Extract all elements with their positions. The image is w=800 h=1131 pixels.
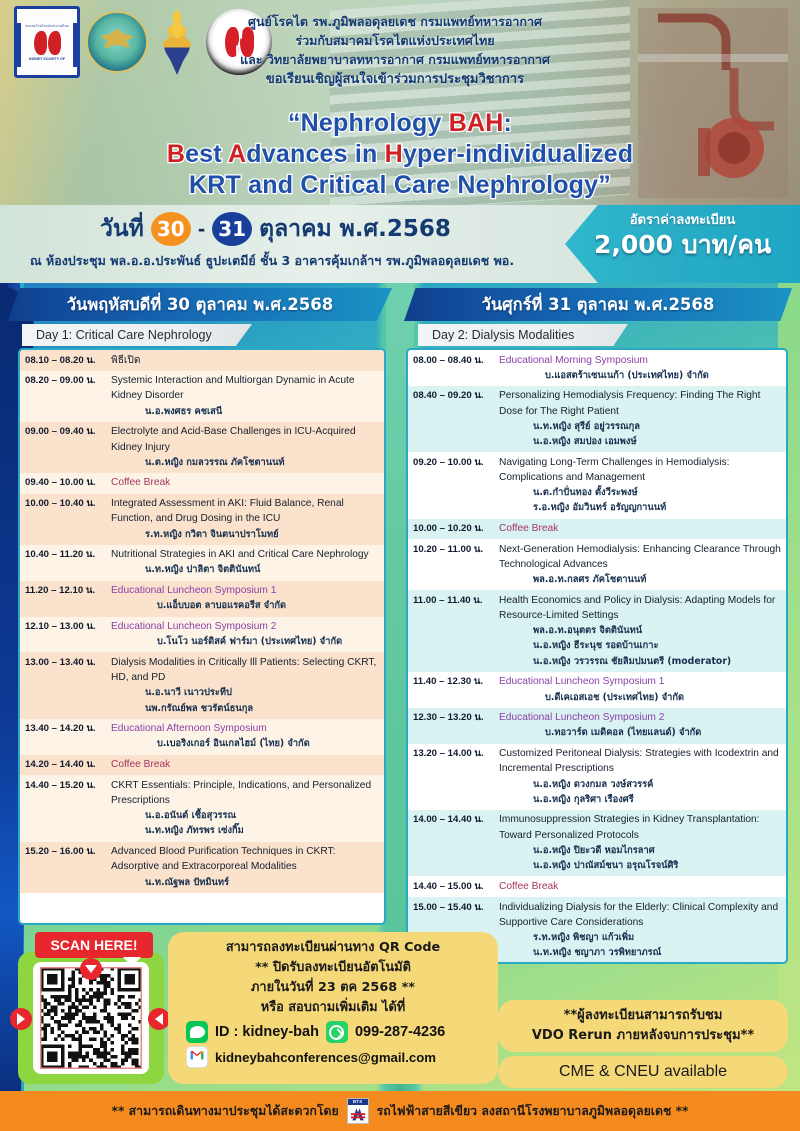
schedule-row-speaker: น.อ.หญิง ปาณัสม์ชนา อรุณโรจน์ศิริ [499,858,782,873]
schedule-row-title: Next-Generation Hemodialysis: Enhancing … [499,542,782,572]
schedule-row: 10.00 – 10.20 น.Coffee Break [408,519,786,540]
schedule-row: 08.40 – 09.20 น.Personalizing Hemodialys… [408,386,786,452]
schedule-row-time: 09.20 – 10.00 น. [413,455,499,470]
invitation-line: ขอเรียนเชิญผู้สนใจเข้าร่วมการประชุมวิชาก… [160,69,630,91]
schedule-row-title: Customized Peritoneal Dialysis: Strategi… [499,746,782,776]
schedule-row-title: Electrolyte and Acid-Base Challenges in … [111,424,380,454]
contact-row-1: ID : kidney-bah 099-287-4236 [176,1021,490,1043]
schedule-row-speaker: บ.โนโว นอร์ดิสค์ ฟาร์มา (ประเทศไทย) จำกั… [111,634,380,649]
schedule-row-time: 14.00 – 14.40 น. [413,812,499,827]
schedule-row-title: Advanced Blood Purification Techniques i… [111,844,380,874]
schedule-row-time: 10.00 – 10.40 น. [25,496,111,511]
schedule-row-time: 15.20 – 16.00 น. [25,844,111,859]
organizer-text-block: ศูนย์โรคไต รพ.ภูมิพลอดุลยเดช กรมแพทย์ทหา… [160,12,630,91]
rtaf-medical-department-logo [86,11,148,73]
schedule-row-body: Navigating Long-Term Challenges in Hemod… [499,455,782,516]
cme-text: CME & CNEU available [559,1063,727,1081]
schedule-row-speaker: บ.เบอริงเกอร์ อินเกลไฮม์ (ไทย) จำกัด [111,736,380,751]
schedule-row-title: Educational Luncheon Symposium 1 [499,674,782,689]
kidney-society-of-thailand-logo: สมาคมโรคไตแห่งประเทศไทย KIDNEY SOCIETY O… [14,6,80,78]
schedule-row-title: พิธีเปิด [111,353,380,368]
conference-title: “Nephrology BAH: Best Advances in Hyper-… [40,108,760,201]
schedule-row-time: 14.20 – 14.40 น. [25,757,111,772]
date-and-fee-band: วันที่ 30 - 31 ตุลาคม พ.ศ.2568 ณ ห้องประ… [0,205,800,283]
vdo-rerun-line-1: **ผู้ลงทะเบียนสามารถรับชม [564,1006,723,1026]
date-month-year: ตุลาคม พ.ศ.2568 [259,211,451,247]
qr-code-image[interactable] [38,967,144,1069]
date-pill-from: 30 [151,212,191,246]
organizer-line-3: และ วิทยาลัยพยาบาลทหารอากาศ กรมแพทย์ทหาร… [160,50,630,69]
schedule-row-time: 10.00 – 10.20 น. [413,521,499,536]
schedule-row-speaker: น.ท.หญิง สุรีย์ อยู่วรรณกุล [499,419,782,434]
schedule-row-speaker: ร.ท.หญิง พิชญา แก้วเพิ่ม [499,930,782,945]
schedule-row-body: Educational Luncheon Symposium 1บ.ดีเคเอ… [499,674,782,704]
schedule-row-body: Next-Generation Hemodialysis: Enhancing … [499,542,782,588]
schedule-row: 11.20 – 12.10 น.Educational Luncheon Sym… [20,581,384,617]
schedule-row-body: Customized Peritoneal Dialysis: Strategi… [499,746,782,807]
schedule-row-title: Systemic Interaction and Multiorgan Dyna… [111,373,380,403]
schedule-row-speaker: น.อ.หญิง วรวรรณ ชัยลิมปมนตรี (moderator) [499,654,782,669]
email-text: kidneybahconferences@gmail.com [215,1050,436,1065]
schedule-row-title: Personalizing Hemodialysis Frequency: Fi… [499,388,782,418]
schedule-row-time: 14.40 – 15.20 น. [25,778,111,793]
schedule-row-time: 11.40 – 12.30 น. [413,674,499,689]
poster-header: สมาคมโรคไตแห่งประเทศไทย KIDNEY SOCIETY O… [0,0,800,205]
schedule-row-time: 09.00 – 09.40 น. [25,424,111,439]
schedule-row-title: Educational Luncheon Symposium 2 [499,710,782,725]
schedule-row-time: 13.20 – 14.00 น. [413,746,499,761]
registration-fee-box: อัตราค่าลงทะเบียน 2,000 บาท/คน [565,205,800,283]
schedule-row-speaker: พล.อ.ท.อนุตตร จิตตินันทน์ [499,623,782,638]
phone-text: 099-287-4236 [355,1024,445,1040]
schedule-row: 10.40 – 11.20 น.Nutritional Strategies i… [20,545,384,581]
schedule-row-speaker: น.อ.หญิง ปิยะวดี หอมไกรลาศ [499,843,782,858]
schedule-row-time: 08.20 – 09.00 น. [25,373,111,388]
schedule-row: 11.40 – 12.30 น.Educational Luncheon Sym… [408,672,786,708]
schedule-row: 14.40 – 15.20 น.CKRT Essentials: Princip… [20,775,384,841]
schedule-row-speaker: น.อ.หญิง ธีระนุช รอดบ้านเกาะ [499,638,782,653]
schedule-row-time: 14.40 – 15.00 น. [413,879,499,894]
schedule-row-speaker: น.ต.หญิง กมลวรรณ ภัคโชตานนท์ [111,455,380,470]
schedule-row-body: Educational Morning Symposiumบ.แอสตร้าเซ… [499,353,782,383]
day1-title-tag: Day 1: Critical Care Nephrology [22,324,252,346]
schedule-row-time: 11.20 – 12.10 น. [25,583,111,598]
schedule-row: 08.10 – 08.20 น.พิธีเปิด [20,350,384,371]
schedule-row-title: Nutritional Strategies in AKI and Critic… [111,547,380,562]
day1-schedule-table: 08.10 – 08.20 น.พิธีเปิด08.20 – 09.00 น.… [18,348,386,925]
schedule-row-speaker: บ.แอสตร้าเซนเนก้า (ประเทศไทย) จำกัด [499,368,782,383]
schedule-row-body: Educational Afternoon Symposiumบ.เบอริงเ… [111,721,380,751]
schedule-row-time: 15.00 – 15.40 น. [413,900,499,915]
schedule-row-body: CKRT Essentials: Principle, Indications,… [111,778,380,839]
registration-line-3: ภายในวันที่ 23 ตค 2568 ** [176,978,490,998]
vdo-rerun-box: **ผู้ลงทะเบียนสามารถรับชม VDO Rerun ภายห… [498,1000,788,1052]
schedule-row-title: Navigating Long-Term Challenges in Hemod… [499,455,782,485]
schedule-row-title: Individualizing Dialysis for the Elderly… [499,900,782,930]
line-id-text: ID : kidney-bah [215,1024,319,1040]
day2-schedule-table: 08.00 – 08.40 น.Educational Morning Symp… [406,348,788,964]
registration-info-box: สามารถลงทะเบียนผ่านทาง QR Code ** ปิดรับ… [168,932,498,1084]
schedule-row-title: Coffee Break [499,879,782,894]
schedule-row: 12.30 – 13.20 น.Educational Luncheon Sym… [408,708,786,744]
schedule-row-speaker: น.อ.อนันต์ เชื้อสุวรรณ [111,808,380,823]
venue-text: ณ ห้องประชุม พล.อ.อ.ประพันธ์ ธูปะเตมีย์ … [30,251,610,271]
schedule-row-body: Coffee Break [111,757,380,772]
schedule-row-body: Educational Luncheon Symposium 1บ.แอ็บบอ… [111,583,380,613]
schedule-row: 12.10 – 13.00 น.Educational Luncheon Sym… [20,617,384,653]
vdo-rerun-line-2: VDO Rerun ภายหลังจบการประชุม** [532,1026,754,1046]
schedule-row-time: 10.20 – 11.00 น. [413,542,499,557]
schedule-row-speaker: น.อ.หญิง ดวงกมล วงษ์สวรรค์ [499,777,782,792]
schedule-row-time: 12.30 – 13.20 น. [413,710,499,725]
registration-line-1: สามารถลงทะเบียนผ่านทาง QR Code [176,938,490,958]
scan-here-badge: SCAN HERE! [35,932,153,958]
schedule-row-time: 13.40 – 14.20 น. [25,721,111,736]
whatsapp-icon[interactable] [326,1021,348,1043]
schedule-row-title: Educational Morning Symposium [499,353,782,368]
schedule-row-body: Coffee Break [111,475,380,490]
schedule-row-time: 08.40 – 09.20 น. [413,388,499,403]
schedule-row-speaker: ร.ท.หญิง กวิตา จินตนาปราโมทย์ [111,527,380,542]
arrow-left-icon [148,1008,170,1030]
schedule-row: 10.20 – 11.00 น.Next-Generation Hemodial… [408,539,786,590]
title-line-3: KRT and Critical Care Nephrology” [40,170,760,201]
cme-credit-box: CME & CNEU available [498,1056,788,1088]
schedule-row-speaker: น.ท.ณัฐพล ปัทมินทร์ [111,875,380,890]
schedule-row-time: 11.00 – 11.40 น. [413,593,499,608]
schedule-row-time: 12.10 – 13.00 น. [25,619,111,634]
schedule-row-body: Integrated Assessment in AKI: Fluid Bala… [111,496,380,542]
schedule-row-body: Systemic Interaction and Multiorgan Dyna… [111,373,380,419]
schedule-row-body: Health Economics and Policy in Dialysis:… [499,593,782,669]
schedule-row-title: Health Economics and Policy in Dialysis:… [499,593,782,623]
date-dash: - [198,216,205,242]
title-line-2: Best Advances in Hyper-individualized [40,139,760,170]
schedule-row-body: Advanced Blood Purification Techniques i… [111,844,380,890]
conference-dates: วันที่ 30 - 31 ตุลาคม พ.ศ.2568 [100,211,451,247]
schedule-row: 09.20 – 10.00 น.Navigating Long-Term Cha… [408,452,786,518]
schedule-row-title: Coffee Break [499,521,782,536]
footer-text-before: ** สามารถเดินทางมาประชุมได้สะดวกโดย [112,1102,339,1121]
schedule-row-time: 13.00 – 13.40 น. [25,655,111,670]
schedule-row: 13.40 – 14.20 น.Educational Afternoon Sy… [20,719,384,755]
contact-row-2: kidneybahconferences@gmail.com [176,1046,490,1068]
schedule-row: 13.00 – 13.40 น.Dialysis Modalities in C… [20,652,384,718]
day2-title-tag: Day 2: Dialysis Modalities [418,324,628,346]
date-prefix: วันที่ [100,211,144,247]
schedule-row-body: Coffee Break [499,879,782,894]
schedule-row-body: Nutritional Strategies in AKI and Critic… [111,547,380,577]
schedule-row-time: 10.40 – 11.20 น. [25,547,111,562]
arrow-down-icon [80,958,102,980]
schedule-row-time: 08.00 – 08.40 น. [413,353,499,368]
day2-date-ribbon: วันศุกร์ที่ 31 ตุลาคม พ.ศ.2568 [404,288,792,321]
schedule-row-title: Educational Luncheon Symposium 2 [111,619,380,634]
schedule-row-speaker: น.ท.หญิง ปาลิตา จิตตินันทน์ [111,562,380,577]
schedule-row: 10.00 – 10.40 น.Integrated Assessment in… [20,494,384,545]
schedule-row-title: Educational Luncheon Symposium 1 [111,583,380,598]
schedule-row: 08.00 – 08.40 น.Educational Morning Symp… [408,350,786,386]
schedule-row-speaker: น.อ.พงศธร คชเสนี [111,404,380,419]
schedule-row-time: 09.40 – 10.00 น. [25,475,111,490]
bts-skytrain-logo: BTS [347,1098,369,1124]
schedule-row-title: Coffee Break [111,475,380,490]
gmail-icon[interactable] [186,1046,208,1068]
schedule-row-speaker: น.อ.นาวี เนาวประทีป [111,685,380,700]
title-line-1: “Nephrology BAH: [40,108,760,139]
schedule-row-speaker: บ.ทอวาร์ด เมดิคอล (ไทยแลนด์) จำกัด [499,725,782,740]
footer-text-after: รถไฟฟ้าสายสีเขียว ลงสถานีโรงพยาบาลภูมิพล… [377,1102,689,1121]
schedule-row-title: Immunosuppression Strategies in Kidney T… [499,812,782,842]
line-app-icon[interactable] [186,1021,208,1043]
schedule-row: 15.20 – 16.00 น.Advanced Blood Purificat… [20,842,384,893]
schedule-row-body: พิธีเปิด [111,353,380,368]
schedule-row: 14.20 – 14.40 น.Coffee Break [20,755,384,776]
bts-logo-label: BTS [348,1099,368,1105]
schedule-row-body: Individualizing Dialysis for the Elderly… [499,900,782,961]
schedule-row-speaker: น.ท.หญิง ชญาภา วรพิทยาภรณ์ [499,945,782,960]
conference-poster: สมาคมโรคไตแห่งประเทศไทย KIDNEY SOCIETY O… [0,0,800,1131]
schedule-row-title: Dialysis Modalities in Critically Ill Pa… [111,655,380,685]
schedule-row-time: 08.10 – 08.20 น. [25,353,111,368]
day1-date-ribbon: วันพฤหัสบดีที่ 30 ตุลาคม พ.ศ.2568 [8,288,392,321]
schedule-row: 13.20 – 14.00 น.Customized Peritoneal Di… [408,744,786,810]
qr-scan-block[interactable]: SCAN HERE! [18,932,164,1084]
organizer-line-2: ร่วมกับสมาคมโรคไตแห่งประเทศไทย [160,31,630,50]
fee-label: อัตราค่าลงทะเบียน [565,212,800,230]
arrow-right-icon [10,1008,32,1030]
schedule-row-body: Educational Luncheon Symposium 2บ.ทอวาร์… [499,710,782,740]
schedule-row-body: Electrolyte and Acid-Base Challenges in … [111,424,380,470]
schedule-row-title: CKRT Essentials: Principle, Indications,… [111,778,380,808]
schedule-row-speaker: น.อ.หญิง สมปอง เอมพงษ์ [499,434,782,449]
schedule-row: 08.20 – 09.00 น.Systemic Interaction and… [20,371,384,422]
schedule-row-speaker: พล.อ.ท.กลศร ภัคโชตานนท์ [499,572,782,587]
schedule-row-speaker: น.ต.กำปั่นทอง ตั้งวีระพงษ์ [499,485,782,500]
schedule-row-title: Integrated Assessment in AKI: Fluid Bala… [111,496,380,526]
schedule-row-speaker: น.ท.หญิง ภัทรพร เซ่งกิ๊ม [111,823,380,838]
registration-line-4: หรือ สอบถามเพิ่มเติม ได้ที่ [176,998,490,1018]
schedule-row: 09.00 – 09.40 น.Electrolyte and Acid-Bas… [20,422,384,473]
registration-line-2: ** ปิดรับลงทะเบียนอัตโนมัติ [176,958,490,978]
schedule-row: 14.40 – 15.00 น.Coffee Break [408,876,786,897]
schedule-row-body: Immunosuppression Strategies in Kidney T… [499,812,782,873]
schedule-row-body: Educational Luncheon Symposium 2บ.โนโว น… [111,619,380,649]
schedule-row-body: Dialysis Modalities in Critically Ill Pa… [111,655,380,716]
organizer-line-1: ศูนย์โรคไต รพ.ภูมิพลอดุลยเดช กรมแพทย์ทหา… [160,12,630,31]
schedule-row-speaker: บ.แอ็บบอต ลาบอแรคอรีส จำกัด [111,598,380,613]
schedule-row-title: Coffee Break [111,757,380,772]
schedule-row: 11.00 – 11.40 น.Health Economics and Pol… [408,590,786,672]
schedule-row-body: Coffee Break [499,521,782,536]
schedule-row: 09.40 – 10.00 น.Coffee Break [20,473,384,494]
schedule-row-body: Personalizing Hemodialysis Frequency: Fi… [499,388,782,449]
date-pill-to: 31 [212,212,252,246]
schedule-row-title: Educational Afternoon Symposium [111,721,380,736]
schedule-row-speaker: บ.ดีเคเอสเอช (ประเทศไทย) จำกัด [499,690,782,705]
schedule-row-speaker: นพ.กรัณย์พล ชวรัตน์ธนกุล [111,701,380,716]
transport-footer: ** สามารถเดินทางมาประชุมได้สะดวกโดย BTS … [0,1091,800,1131]
schedule-row: 14.00 – 14.40 น.Immunosuppression Strate… [408,810,786,876]
schedule-row-speaker: ร.อ.หญิง อัมวินทร์ อรัญญกานนท์ [499,500,782,515]
schedule-row-speaker: น.อ.หญิง กุลริศา เรืองศรี [499,792,782,807]
